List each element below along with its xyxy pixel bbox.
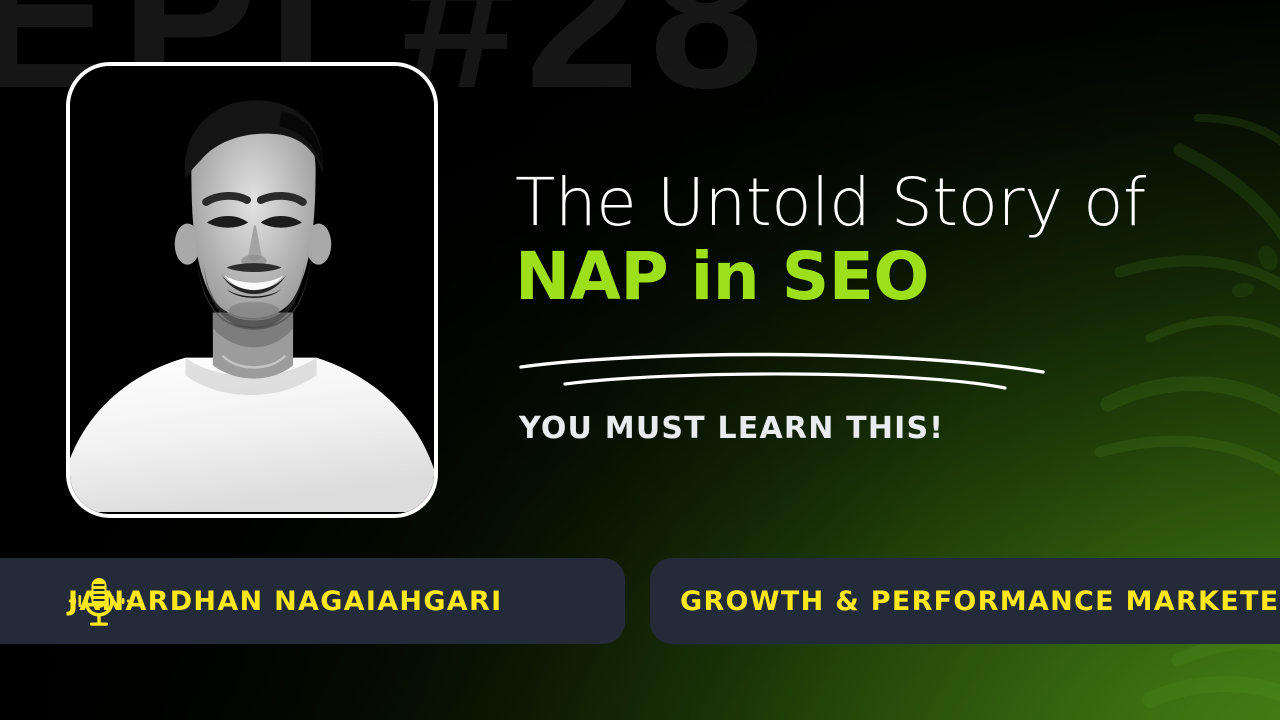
host-portrait-image bbox=[70, 66, 434, 512]
microphone-icon bbox=[68, 570, 130, 632]
kicker-text: YOU MUST LEARN THIS! bbox=[519, 411, 944, 446]
host-name-label: JANARDHAN NAGAIAHGARI bbox=[68, 586, 502, 617]
host-portrait-frame bbox=[66, 62, 438, 518]
host-role-label: GROWTH & PERFORMANCE MARKETER bbox=[680, 586, 1280, 617]
title-line-1: The Untold Story of bbox=[515, 168, 1215, 238]
title-line-2: NAP in SEO bbox=[515, 240, 1215, 314]
host-role-bar: GROWTH & PERFORMANCE MARKETER bbox=[650, 558, 1280, 644]
headline-block: The Untold Story of NAP in SEO bbox=[515, 168, 1215, 314]
podcast-thumbnail: EPI #28 bbox=[0, 0, 1280, 720]
